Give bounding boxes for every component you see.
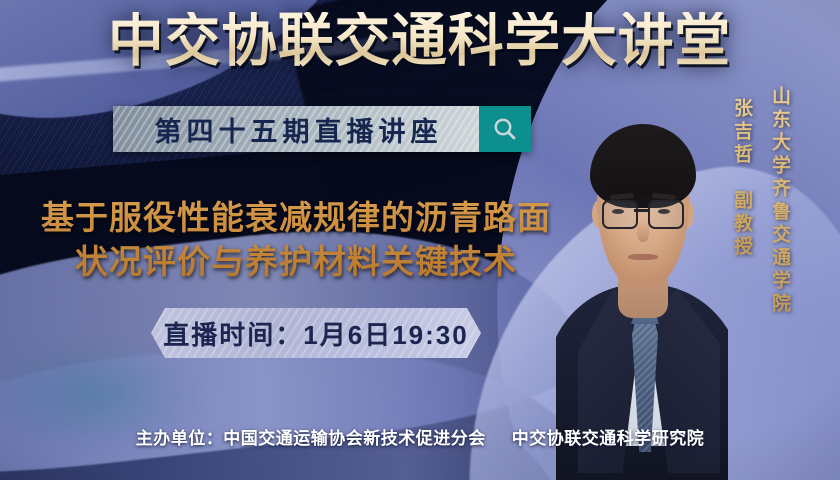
- episode-banner-text-area: 第四十五期直播讲座: [113, 106, 479, 152]
- portrait-mouth: [628, 254, 658, 260]
- footer-organizer-label: 主办单位：: [136, 429, 224, 448]
- portrait-nose: [637, 222, 649, 242]
- portrait-glasses-lens-left: [602, 200, 638, 229]
- broadcast-time-pill: 直播时间：1月6日19:30: [151, 308, 481, 358]
- episode-banner: 第四十五期直播讲座: [113, 106, 531, 152]
- webinar-poster: 中交协联交通科学大讲堂 第四十五期直播讲座 基于服役性能衰减规律的沥青路面 状况…: [0, 0, 840, 480]
- search-icon: [491, 115, 519, 143]
- portrait-glasses-lens-right: [648, 200, 684, 229]
- headline-line-2: 状况评价与养护材料关键技术: [22, 240, 570, 284]
- headline-line-1: 基于服役性能衰减规律的沥青路面: [22, 196, 570, 240]
- main-title-container: 中交协联交通科学大讲堂: [0, 12, 840, 70]
- footer-organizers: 主办单位：中国交通运输协会新技术促进分会中交协联交通科学研究院: [0, 424, 840, 449]
- footer-organizer-1: 中国交通运输协会新技术促进分会: [223, 429, 486, 448]
- speaker-affiliation-vertical: 山东大学齐鲁交通学院: [766, 86, 793, 316]
- speaker-name-vertical: 张吉哲 副教授: [728, 98, 755, 259]
- episode-label: 第四十五期直播讲座: [150, 110, 443, 149]
- footer-organizer-2: 中交协联交通科学研究院: [512, 429, 705, 448]
- broadcast-time-text: 直播时间：1月6日19:30: [163, 315, 468, 352]
- lecture-headline: 基于服役性能衰减规律的沥青路面 状况评价与养护材料关键技术: [22, 196, 570, 284]
- speaker-portrait: [556, 88, 728, 480]
- main-title: 中交协联交通科学大讲堂: [108, 12, 731, 70]
- search-icon-box[interactable]: [479, 106, 531, 152]
- portrait-hair: [590, 124, 696, 208]
- portrait-glasses-bridge: [634, 209, 648, 212]
